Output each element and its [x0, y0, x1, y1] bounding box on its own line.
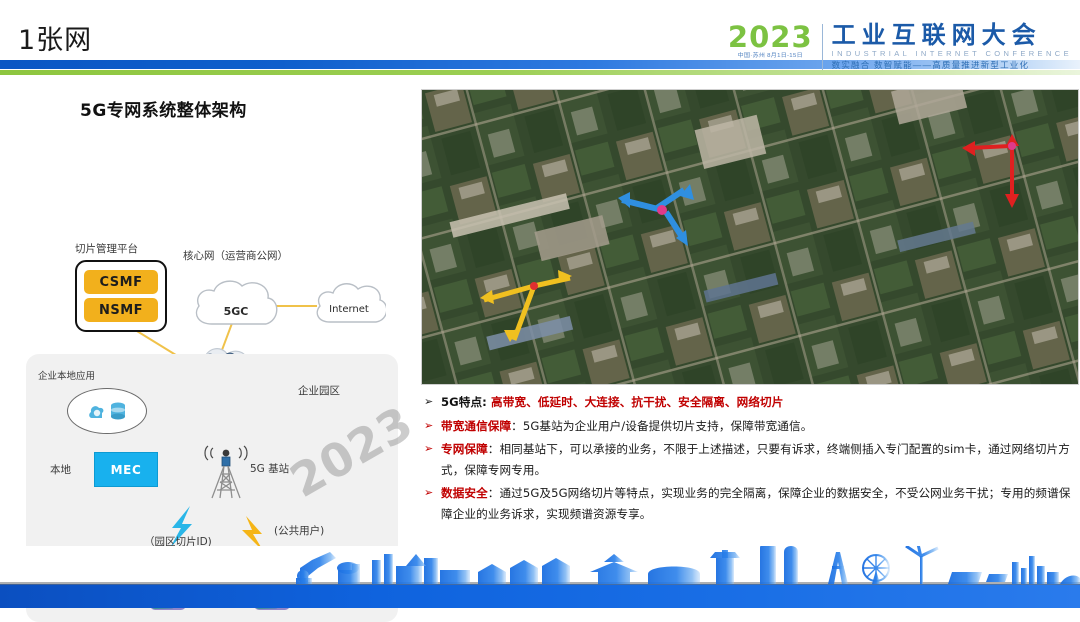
slide-root: 1张网 2023 中国·苏州 8月1日-15日 工业互联网大会 INDUSTRI… [0, 0, 1080, 608]
label-campus: 企业园区 [298, 383, 340, 398]
logo-year-block: 2023 中国·苏州 8月1日-15日 [728, 22, 822, 61]
label-core-network: 核心网（运营商公网） [183, 248, 288, 263]
logo-main-title: 工业互联网大会 [832, 22, 1072, 48]
cloud-internet: Internet [312, 276, 386, 334]
logo-english-title: INDUSTRIAL INTERNET CONFERENCE [832, 48, 1072, 59]
label-local-apps: 企业本地应用 [38, 368, 95, 382]
bullet-list: ➢ 5G特点: 高带宽、低延时、大连接、抗干扰、安全隔离、网络切片 ➢ 带宽通信… [424, 392, 1076, 527]
bullet-head: 数据安全 [441, 486, 488, 500]
bullet-text: 5G特点: 高带宽、低延时、大连接、抗干扰、安全隔离、网络切片 [441, 392, 1076, 413]
bullet-head: 带宽通信保障 [441, 419, 511, 433]
bullet-head: 5G特点: [441, 395, 487, 409]
bullet-item: ➢ 带宽通信保障：5G基站为企业用户/设备提供切片支持，保障带宽通信。 [424, 416, 1076, 437]
conference-logo: 2023 中国·苏州 8月1日-15日 工业互联网大会 INDUSTRIAL I… [728, 22, 1072, 72]
logo-tagline: 数实融合 数智赋能——高质量推进新型工业化 [832, 59, 1072, 71]
bullet-marker: ➢ [424, 392, 441, 412]
bullet-body: ：5G基站为企业用户/设备提供切片支持，保障带宽通信。 [511, 419, 812, 433]
aerial-satellite-image [421, 89, 1079, 385]
page-title: 1张网 [18, 18, 92, 57]
bullet-marker: ➢ [424, 439, 441, 459]
database-icon [110, 402, 126, 421]
label-public-user: (公共用户) [274, 523, 324, 538]
cloud-5gc: 5GC [190, 274, 282, 336]
logo-divider [822, 24, 823, 70]
bullet-text: 带宽通信保障：5G基站为企业用户/设备提供切片支持，保障带宽通信。 [441, 416, 1076, 437]
label-base-station: 5G 基站 [250, 461, 289, 476]
bullet-marker: ➢ [424, 483, 441, 503]
label-local: 本地 [50, 462, 71, 477]
logo-year: 2023 [728, 22, 813, 52]
logo-year-subtitle: 中国·苏州 8月1日-15日 [738, 52, 803, 60]
bullet-item: ➢ 数据安全：通过5G及5G网络切片等特点，实现业务的完全隔离，保障企业的数据安… [424, 483, 1076, 524]
cloud-app-icon [88, 402, 105, 421]
footer-skyline [0, 546, 1080, 608]
slice-management-platform: CSMF NSMF [75, 260, 167, 332]
mec-node: MEC [94, 452, 158, 487]
bullet-item: ➢ 专网保障：相同基站下，可以承接的业务，不限于上述描述，只要有诉求，终端侧插入… [424, 439, 1076, 480]
bullet-body: ：相同基站下，可以承接的业务，不限于上述描述，只要有诉求，终端侧插入专门配置的s… [441, 442, 1070, 477]
bullet-item: ➢ 5G特点: 高带宽、低延时、大连接、抗干扰、安全隔离、网络切片 [424, 392, 1076, 413]
bullet-body: ：通过5G及5G网络切片等特点，实现业务的完全隔离，保障企业的数据安全，不受公网… [441, 486, 1071, 521]
bullet-marker: ➢ [424, 416, 441, 436]
label-slice-platform: 切片管理平台 [75, 241, 138, 256]
nsmf-node: NSMF [84, 298, 158, 322]
bullet-body: 高带宽、低延时、大连接、抗干扰、安全隔离、网络切片 [487, 395, 783, 409]
architecture-diagram: 5G专网系统整体架构 切片管理平台 CSMF [12, 86, 412, 540]
local-application-node [67, 388, 147, 434]
logo-text-block: 工业互联网大会 INDUSTRIAL INTERNET CONFERENCE 数… [832, 22, 1072, 71]
bullet-text: 数据安全：通过5G及5G网络切片等特点，实现业务的完全隔离，保障企业的数据安全，… [441, 483, 1076, 524]
bullet-text: 专网保障：相同基站下，可以承接的业务，不限于上述描述，只要有诉求，终端侧插入专门… [441, 439, 1076, 480]
csmf-node: CSMF [84, 270, 158, 294]
bullet-head: 专网保障 [441, 442, 488, 456]
base-station-tower-icon [194, 434, 258, 500]
